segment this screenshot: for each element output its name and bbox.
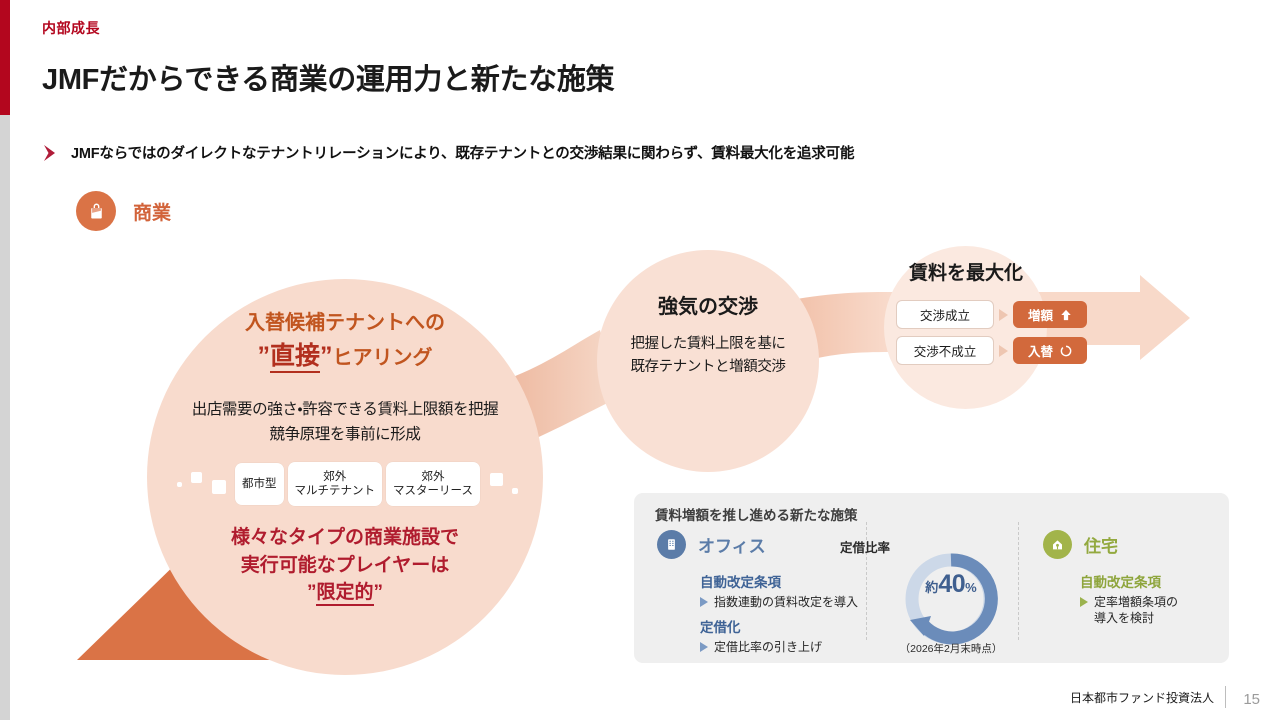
triangle-right-icon-3 [1080, 597, 1088, 607]
decor-square-md2 [490, 473, 503, 486]
step1-foot-accent: 限定的 [316, 582, 373, 606]
step1-heading-line2: ”直接”ヒアリング [160, 338, 530, 374]
decor-square-xs2 [512, 488, 518, 494]
tag-urban[interactable]: 都市型 [235, 463, 284, 505]
category-commercial: 商業 [76, 191, 171, 231]
step3-row-fail: 交渉不成立 入替 [896, 336, 1087, 365]
office-group-1-item-1-text: 指数連動の賃料改定を導入 [714, 594, 858, 610]
residential-item-line2: 導入を検討 [1094, 611, 1154, 625]
house-key-icon [1043, 530, 1072, 559]
decor-square-md [212, 480, 226, 494]
arrow-right-icon-2 [999, 345, 1008, 357]
step2-description-line2: 既存テナントと増額交渉 [596, 356, 820, 379]
accent-bar-red [0, 0, 10, 115]
panel-office-name: オフィス [698, 532, 766, 557]
chevron-right-icon [42, 144, 59, 162]
tag-urban-label: 都市型 [242, 477, 277, 491]
office-group-2-item-1: 定借比率の引き上げ [700, 639, 865, 655]
donut-value-unit: % [965, 580, 977, 595]
section-kicker: 内部成長 [42, 18, 100, 38]
panel-divider-right [1018, 522, 1019, 640]
step1-quote-open: ” [257, 342, 270, 370]
triangle-right-icon-2 [700, 642, 708, 652]
step2-description-line1: 把握した賃料上限を基に [596, 333, 820, 356]
step3-condition-fail: 交渉不成立 [896, 336, 994, 365]
step1-heading-tail: ヒアリング [333, 347, 433, 369]
office-building-icon [657, 530, 686, 559]
office-group-2-item-1-text: 定借比率の引き上げ [714, 639, 822, 655]
donut-chart-label: 定借比率 [840, 537, 890, 556]
donut-value-prefix: 約 [925, 580, 938, 595]
slide-root: 内部成長 JMFだからできる商業の運用力と新たな施策 JMFならではのダイレクト… [0, 0, 1280, 720]
office-group-1-heading: 自動改定条項 [700, 571, 865, 591]
office-group-1-item-1: 指数連動の賃料改定を導入 [700, 594, 865, 610]
step3-result-replace-label: 入替 [1028, 341, 1053, 360]
step1-heading: 入替候補テナントへの ”直接”ヒアリング [160, 309, 530, 374]
step1-footnote-line3: ”限定的” [170, 579, 520, 607]
residential-group-1-item-1: 定率増額条項の 導入を検討 [1080, 594, 1230, 626]
panel-residential-name: 住宅 [1084, 532, 1118, 557]
donut-chart-note: （2026年2月末時点） [880, 641, 1022, 656]
step1-description: 出店需要の強さ・許容できる賃料上限額を把握 競争原理を事前に形成 [150, 398, 540, 448]
step3-outcome-list: 交渉成立 増額 交渉不成立 入替 [896, 300, 1087, 372]
step1-tag-row: 都市型 郊外 マルチテナント 郊外 マスターリース [160, 462, 535, 506]
step1-footnote-line1: 様々なタイプの商業施設で [170, 524, 520, 552]
lead-bullet: JMFならではのダイレクトなテナントリレーションにより、既存テナントとの交渉結果… [42, 142, 854, 163]
tag-suburban-multi[interactable]: 郊外 マルチテナント [288, 462, 383, 506]
step1-foot-quote-close: ” [374, 582, 384, 603]
donut-value-number: 40 [938, 570, 965, 598]
panel-title: 賃料増額を推し進める新たな施策 [655, 504, 858, 524]
step1-footnote: 様々なタイプの商業施設で 実行可能なプレイヤーは ”限定的” [170, 524, 520, 607]
step1-heading-accent: 直接 [270, 342, 320, 373]
tag-suburban-master-line2: マスターリース [393, 484, 473, 498]
decor-square-xs [177, 482, 182, 487]
step3-result-replace: 入替 [1013, 337, 1087, 364]
arrow-up-icon [1060, 309, 1072, 321]
step3-result-increase-label: 増額 [1028, 305, 1053, 324]
donut-chart-value: 約40% [898, 570, 1004, 599]
step1-description-line1: 出店需要の強さ・許容できる賃料上限額を把握 [150, 398, 540, 423]
step1-description-line2: 競争原理を事前に形成 [150, 423, 540, 448]
residential-group-1-heading: 自動改定条項 [1080, 571, 1230, 591]
refresh-circle-icon [1060, 345, 1072, 357]
panel-office-group-2: 定借化 定借比率の引き上げ [700, 616, 865, 655]
step3-result-increase: 増額 [1013, 301, 1087, 328]
tag-suburban-multi-line1: 郊外 [323, 470, 346, 484]
tag-suburban-master-line1: 郊外 [422, 470, 445, 484]
residential-group-1-item-1-text: 定率増額条項の 導入を検討 [1094, 594, 1178, 626]
accent-bar-gray [0, 115, 10, 720]
decor-square-sm [191, 472, 202, 483]
page-title: JMFだからできる商業の運用力と新たな施策 [42, 56, 614, 98]
footer-company: 日本都市ファンド投資法人 [1070, 689, 1214, 706]
step1-heading-line1: 入替候補テナントへの [160, 309, 530, 338]
step3-row-success: 交渉成立 増額 [896, 300, 1087, 329]
step1-quote-close: ” [320, 342, 333, 370]
step2-heading: 強気の交渉 [600, 290, 816, 319]
arrow-right-icon [999, 309, 1008, 321]
office-group-2-heading: 定借化 [700, 616, 865, 636]
footer-divider [1225, 686, 1226, 708]
panel-office-group-1: 自動改定条項 指数連動の賃料改定を導入 [700, 571, 865, 610]
panel-residential-group-1: 自動改定条項 定率増額条項の 導入を検討 [1080, 571, 1230, 626]
residential-item-line1: 定率増額条項の [1094, 595, 1178, 609]
category-label: 商業 [133, 198, 171, 225]
step2-description: 把握した賃料上限を基に 既存テナントと増額交渉 [596, 333, 820, 380]
shopping-bag-icon [76, 191, 116, 231]
panel-residential-header: 住宅 [1043, 530, 1118, 559]
step3-condition-success: 交渉成立 [896, 300, 994, 329]
lead-bullet-text: JMFならではのダイレクトなテナントリレーションにより、既存テナントとの交渉結果… [71, 142, 854, 163]
step3-heading: 賃料を最大化 [880, 258, 1052, 285]
donut-chart [898, 546, 1004, 652]
step1-footnote-line2: 実行可能なプレイヤーは [170, 552, 520, 580]
tag-suburban-multi-line2: マルチテナント [295, 484, 376, 498]
triangle-right-icon [700, 597, 708, 607]
panel-office-header: オフィス [657, 530, 766, 559]
footer-page-number: 15 [1243, 691, 1260, 708]
tag-suburban-master[interactable]: 郊外 マスターリース [386, 462, 480, 506]
